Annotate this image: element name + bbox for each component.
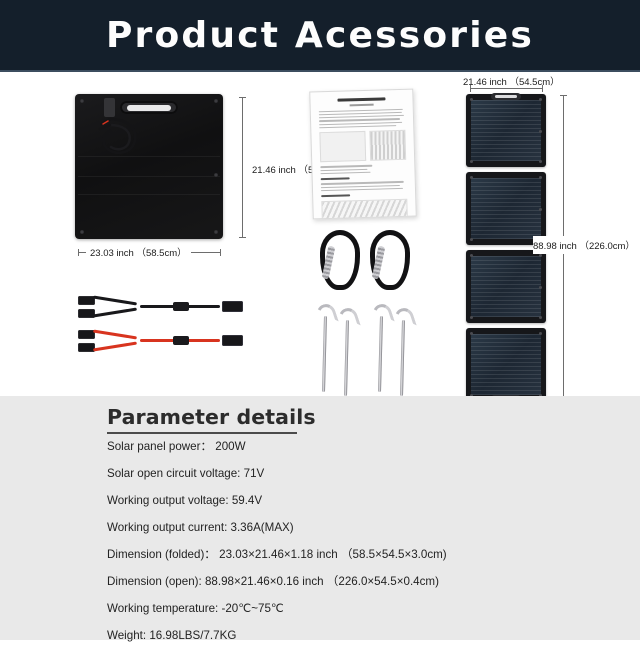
mc4-cable-group: [78, 294, 243, 356]
grommet: [80, 230, 84, 234]
manual-section-heading: [321, 178, 350, 181]
unfolded-width-label: 21.46 inch （54.5cm）: [463, 74, 560, 88]
solar-cells: [471, 178, 541, 239]
grommet: [214, 99, 218, 103]
panel-fold-seam: [78, 156, 220, 157]
parameter-row: Working temperature: -20℃~75℃: [107, 603, 620, 615]
dim-tick: [239, 237, 246, 238]
cable-branch: [93, 330, 137, 340]
panel-segment: [466, 172, 546, 245]
carabiner-pair: [318, 230, 414, 292]
cable-splitter: [173, 336, 189, 345]
panel-segment: [466, 328, 546, 401]
dim-tick: [542, 85, 543, 92]
folded-width-label: 23.03 inch （58.5cm）: [86, 245, 191, 259]
cable-branch: [93, 296, 137, 306]
parameter-row: Dimension (folded)： 23.03×21.46×1.18 inc…: [107, 549, 620, 561]
page-title: Product Acessories: [106, 18, 534, 54]
page-header: Product Acessories: [0, 0, 640, 72]
product-accessories-infographic: Product Acessories 2: [0, 0, 640, 640]
panel-handle: [491, 93, 521, 100]
coiled-cable-icon: [97, 116, 141, 160]
grommet: [214, 230, 218, 234]
panel-segment: [466, 94, 546, 167]
carabiner-right: [370, 230, 410, 290]
cable-branch: [93, 342, 137, 352]
grommet: [80, 99, 84, 103]
panel-segment: [466, 250, 546, 323]
parameter-details-panel: Parameter details Solar panel power： 200…: [0, 396, 640, 640]
mc4-parallel-cable-black: [78, 294, 243, 320]
manual-figure: [319, 130, 406, 162]
tent-stake: [396, 308, 408, 396]
panel-handle: [120, 101, 178, 114]
parameter-row: Working output voltage: 59.4V: [107, 495, 620, 507]
carabiner-left: [320, 230, 360, 290]
parameter-row: Solar open circuit voltage: 71V: [107, 468, 620, 480]
manual-subtitle-bar: [350, 104, 374, 106]
folded-height-dim-line: [242, 97, 243, 237]
cable-branch: [93, 308, 137, 318]
dim-tick: [239, 97, 246, 98]
cable-splitter: [173, 302, 189, 311]
mc4-connector: [222, 301, 243, 312]
tent-stake: [374, 304, 386, 392]
tent-stakes: [316, 300, 416, 392]
tent-stake: [340, 308, 352, 396]
title-underline: [107, 432, 297, 434]
dim-tick: [560, 95, 567, 96]
manual-figure: [321, 199, 408, 219]
parameter-details-title: Parameter details: [107, 405, 316, 429]
panel-fold-seam: [78, 194, 220, 195]
unfolded-height-label: 88.98 inch （226.0cm）: [533, 236, 635, 254]
parameter-row: Weight: 16.98LBS/7.7KG: [107, 630, 620, 642]
manual-section-heading: [321, 195, 350, 198]
cable-plug: [104, 98, 115, 117]
solar-cells: [471, 100, 541, 161]
parameter-row: Solar panel power： 200W: [107, 441, 620, 453]
user-manual-sheet: [309, 89, 417, 220]
parameter-row: Dimension (open): 88.98×21.46×0.16 inch …: [107, 576, 620, 588]
panel-fold-seam: [78, 176, 220, 177]
solar-cells: [471, 334, 541, 395]
solar-cells: [471, 256, 541, 317]
folded-solar-panel: [75, 94, 223, 239]
mc4-connector: [78, 309, 95, 318]
grommet: [214, 173, 218, 177]
parameter-list: Solar panel power： 200WSolar open circui…: [107, 441, 620, 642]
dim-tick: [220, 249, 221, 256]
tent-stake: [318, 304, 330, 392]
manual-title-bar: [337, 97, 385, 101]
parameter-row: Working output current: 3.36A(MAX): [107, 522, 620, 534]
mc4-parallel-cable-red: [78, 328, 243, 354]
product-image-area: 21.46 inch （54.5cm） 23.03 inch （58.5cm）: [0, 72, 640, 396]
mc4-connector: [222, 335, 243, 346]
dim-tick: [78, 249, 79, 256]
unfolded-width-dim-line: [470, 88, 542, 89]
mc4-connector: [78, 343, 95, 352]
dim-tick: [470, 85, 471, 92]
